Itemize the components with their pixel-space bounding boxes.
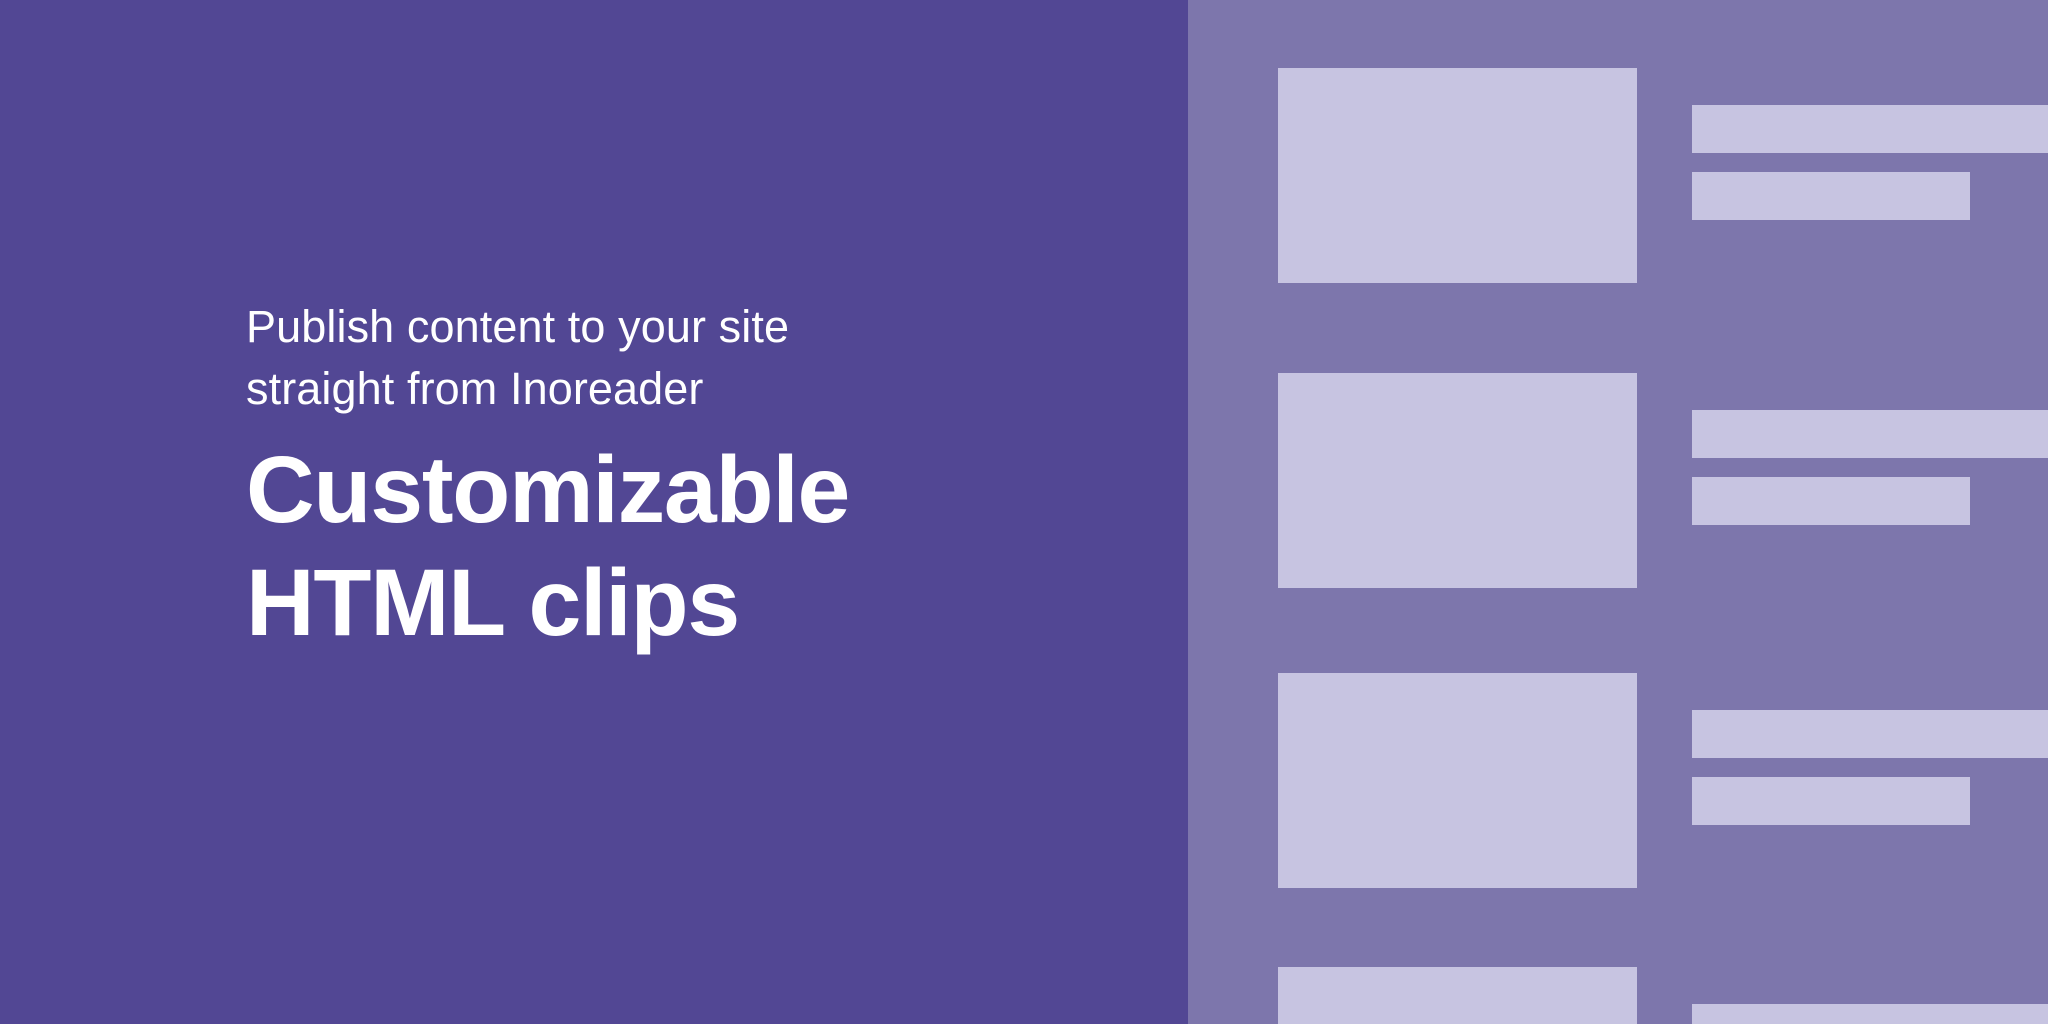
article-subtitle-placeholder	[1692, 777, 1970, 825]
banner-right-panel	[1188, 0, 2048, 1024]
article-thumbnail-placeholder	[1278, 68, 1637, 283]
promo-banner: Publish content to your site straight fr…	[0, 0, 2048, 1024]
article-subtitle-placeholder	[1692, 477, 1970, 525]
article-title-placeholder	[1692, 105, 2048, 153]
article-thumbnail-placeholder	[1278, 967, 1637, 1024]
banner-headline: Customizable HTML clips	[246, 434, 1106, 660]
article-thumbnail-placeholder	[1278, 373, 1637, 588]
banner-left-panel: Publish content to your site straight fr…	[0, 0, 1188, 1024]
banner-eyebrow-text: Publish content to your site straight fr…	[246, 296, 1106, 420]
article-title-placeholder	[1692, 410, 2048, 458]
article-title-placeholder	[1692, 710, 2048, 758]
article-title-placeholder	[1692, 1004, 2048, 1024]
banner-copy-block: Publish content to your site straight fr…	[246, 296, 1106, 660]
article-thumbnail-placeholder	[1278, 673, 1637, 888]
article-subtitle-placeholder	[1692, 172, 1970, 220]
